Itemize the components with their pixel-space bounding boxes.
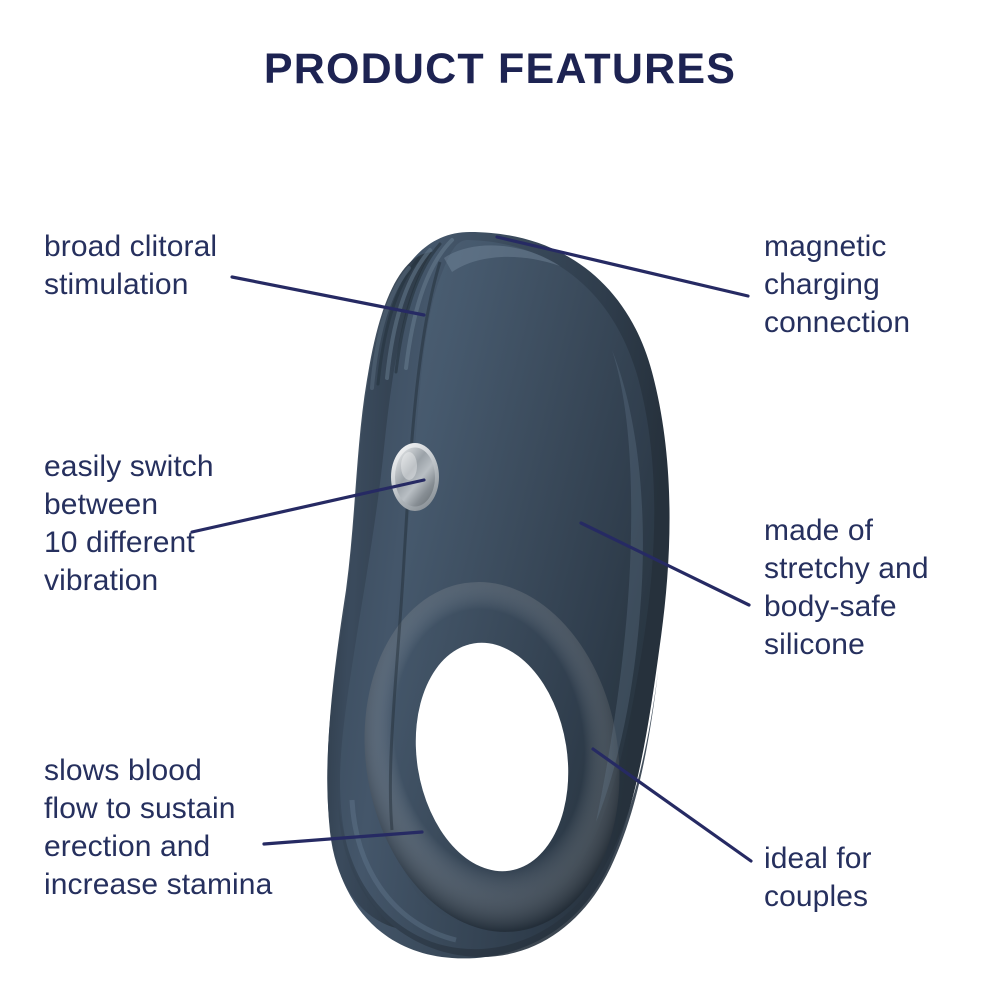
leader-line-slows-blood bbox=[264, 832, 422, 844]
leader-line-magnetic-charging bbox=[497, 237, 748, 296]
leader-line-easily-switch bbox=[192, 480, 424, 532]
leader-line-made-of-silicone bbox=[581, 523, 749, 605]
product-features-infographic: PRODUCT FEATURES bbox=[0, 0, 1000, 1000]
leader-line-group bbox=[0, 0, 1000, 1000]
leader-line-ideal-for-couples bbox=[593, 749, 751, 861]
leader-line-broad-clitoral bbox=[232, 277, 424, 315]
